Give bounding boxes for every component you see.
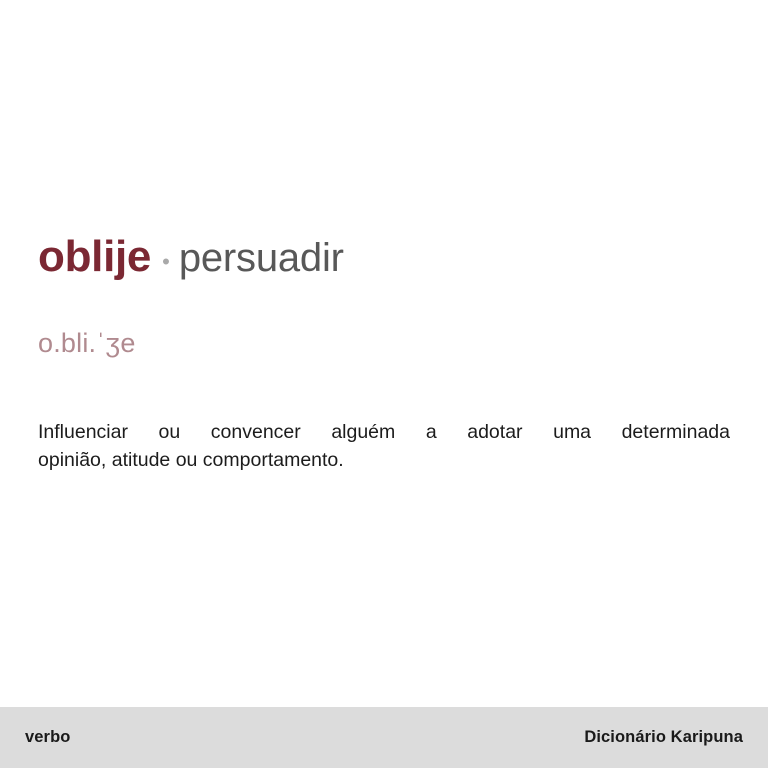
footer-bar: verbo Dicionário Karipuna [0,707,768,768]
definition-text: Influenciar ou convencer alguém a adotar… [38,418,730,474]
headword: oblije [38,232,151,281]
dictionary-entry-card: oblije•persuadir o.bli.ˈʒe Influenciar o… [0,0,768,768]
dictionary-source-label: Dicionário Karipuna [584,728,743,747]
bullet-separator-icon: • [162,250,170,275]
headword-line: oblije•persuadir [38,232,730,281]
translation: persuadir [179,236,344,280]
definition-line-one: Influenciar ou convencer alguém a adotar… [38,418,730,446]
entry-body: oblije•persuadir o.bli.ˈʒe Influenciar o… [38,232,730,281]
pronunciation-ipa: o.bli.ˈʒe [38,328,136,359]
definition-line-two: opinião, atitude ou comportamento. [38,446,730,474]
part-of-speech-label: verbo [25,728,70,747]
